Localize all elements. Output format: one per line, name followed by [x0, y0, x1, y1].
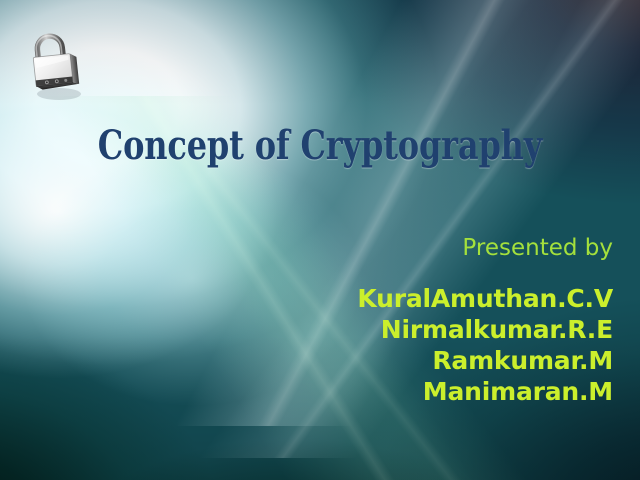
- presentation-slide: Concept of Cryptography Presented by Kur…: [0, 0, 640, 480]
- presented-by-label: Presented by: [462, 234, 613, 263]
- presenter-name: KuralAmuthan.C.V: [357, 283, 613, 314]
- slide-title: Concept of Cryptography: [64, 122, 576, 170]
- presenter-name: Nirmalkumar.R.E: [357, 314, 613, 345]
- presenter-name: Ramkumar.M: [357, 345, 613, 376]
- padlock-icon: [26, 24, 88, 102]
- presenter-list: KuralAmuthan.C.V Nirmalkumar.R.E Ramkuma…: [357, 283, 613, 407]
- presenter-name: Manimaran.M: [357, 376, 613, 407]
